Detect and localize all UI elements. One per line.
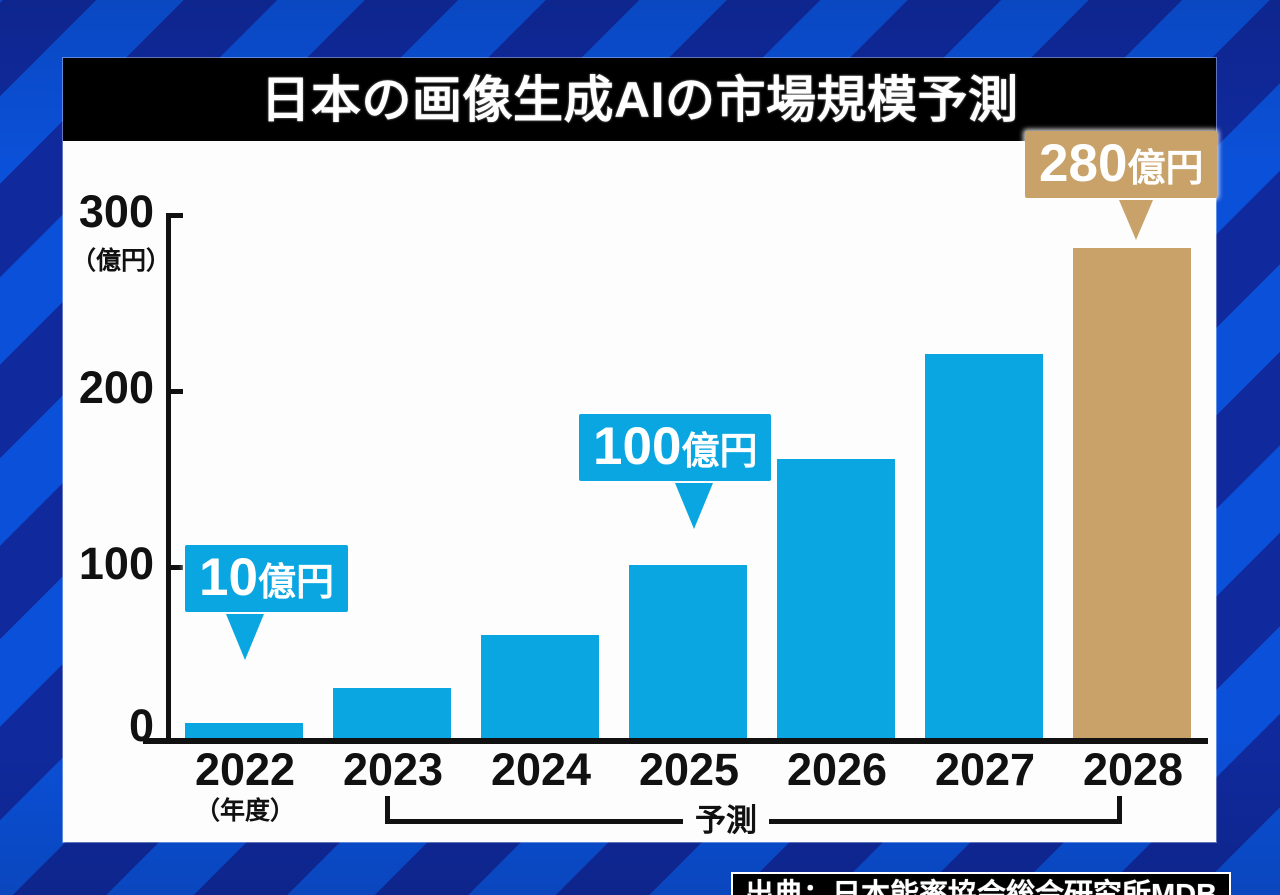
callout-2025-tail bbox=[675, 483, 713, 529]
x-label-2027: 2027 bbox=[911, 747, 1059, 792]
callout-2022-amount: 10 bbox=[199, 548, 258, 607]
x-label-2024: 2024 bbox=[467, 747, 615, 792]
callout-2028-tail bbox=[1119, 200, 1153, 240]
y-tick-label-300: 300 bbox=[14, 189, 154, 234]
chart-panel: 日本の画像生成AIの市場規模予測 300 200 100 0 （億円） bbox=[63, 58, 1216, 842]
x-label-2026: 2026 bbox=[763, 747, 911, 792]
forecast-bracket: 予測 bbox=[63, 796, 1216, 840]
callout-2028: 280億円 bbox=[1025, 131, 1217, 198]
forecast-label: 予測 bbox=[683, 805, 769, 836]
bar-slot-2027 bbox=[911, 141, 1059, 741]
source-box: 出典：日本能率協会総合研究所MDB bbox=[731, 872, 1231, 895]
callout-2028-unit: 億円 bbox=[1127, 148, 1203, 190]
callout-2025-unit: 億円 bbox=[681, 431, 757, 473]
x-label-2025: 2025 bbox=[615, 747, 763, 792]
title-band: 日本の画像生成AIの市場規模予測 bbox=[63, 58, 1216, 141]
x-label-2023: 2023 bbox=[319, 747, 467, 792]
source-text: 出典：日本能率協会総合研究所MDB bbox=[745, 881, 1217, 895]
bar-2023[interactable] bbox=[333, 688, 451, 741]
callout-2022-unit: 億円 bbox=[258, 562, 334, 604]
callout-2022-tail bbox=[226, 614, 264, 660]
y-tick-label-0: 0 bbox=[14, 703, 154, 748]
bar-slot-2023 bbox=[319, 141, 467, 741]
bar-2027[interactable] bbox=[925, 354, 1043, 741]
bar-2024[interactable] bbox=[481, 635, 599, 741]
y-tick-label-200: 200 bbox=[14, 365, 154, 410]
callout-2025-amount: 100 bbox=[593, 417, 681, 476]
callout-2025: 100億円 bbox=[579, 414, 771, 481]
x-label-2028: 2028 bbox=[1059, 747, 1207, 792]
bars-layer: 10億円 100億円 280億円 bbox=[171, 141, 1208, 741]
bar-2025[interactable] bbox=[629, 565, 747, 741]
callout-2028-amount: 280 bbox=[1039, 134, 1127, 193]
y-axis-unit-label: （億円） bbox=[71, 249, 159, 274]
screenshot-stage: 日本の画像生成AIの市場規模予測 300 200 100 0 （億円） bbox=[0, 0, 1280, 895]
chart-title: 日本の画像生成AIの市場規模予測 bbox=[261, 75, 1019, 125]
y-tick-label-100: 100 bbox=[14, 541, 154, 586]
bar-slot-2026 bbox=[763, 141, 911, 741]
bar-2026[interactable] bbox=[777, 459, 895, 741]
plot-area: 300 200 100 0 （億円） bbox=[63, 141, 1216, 842]
x-label-2022: 2022 bbox=[171, 747, 319, 792]
bar-2028[interactable] bbox=[1073, 248, 1191, 741]
callout-2022: 10億円 bbox=[185, 545, 348, 612]
